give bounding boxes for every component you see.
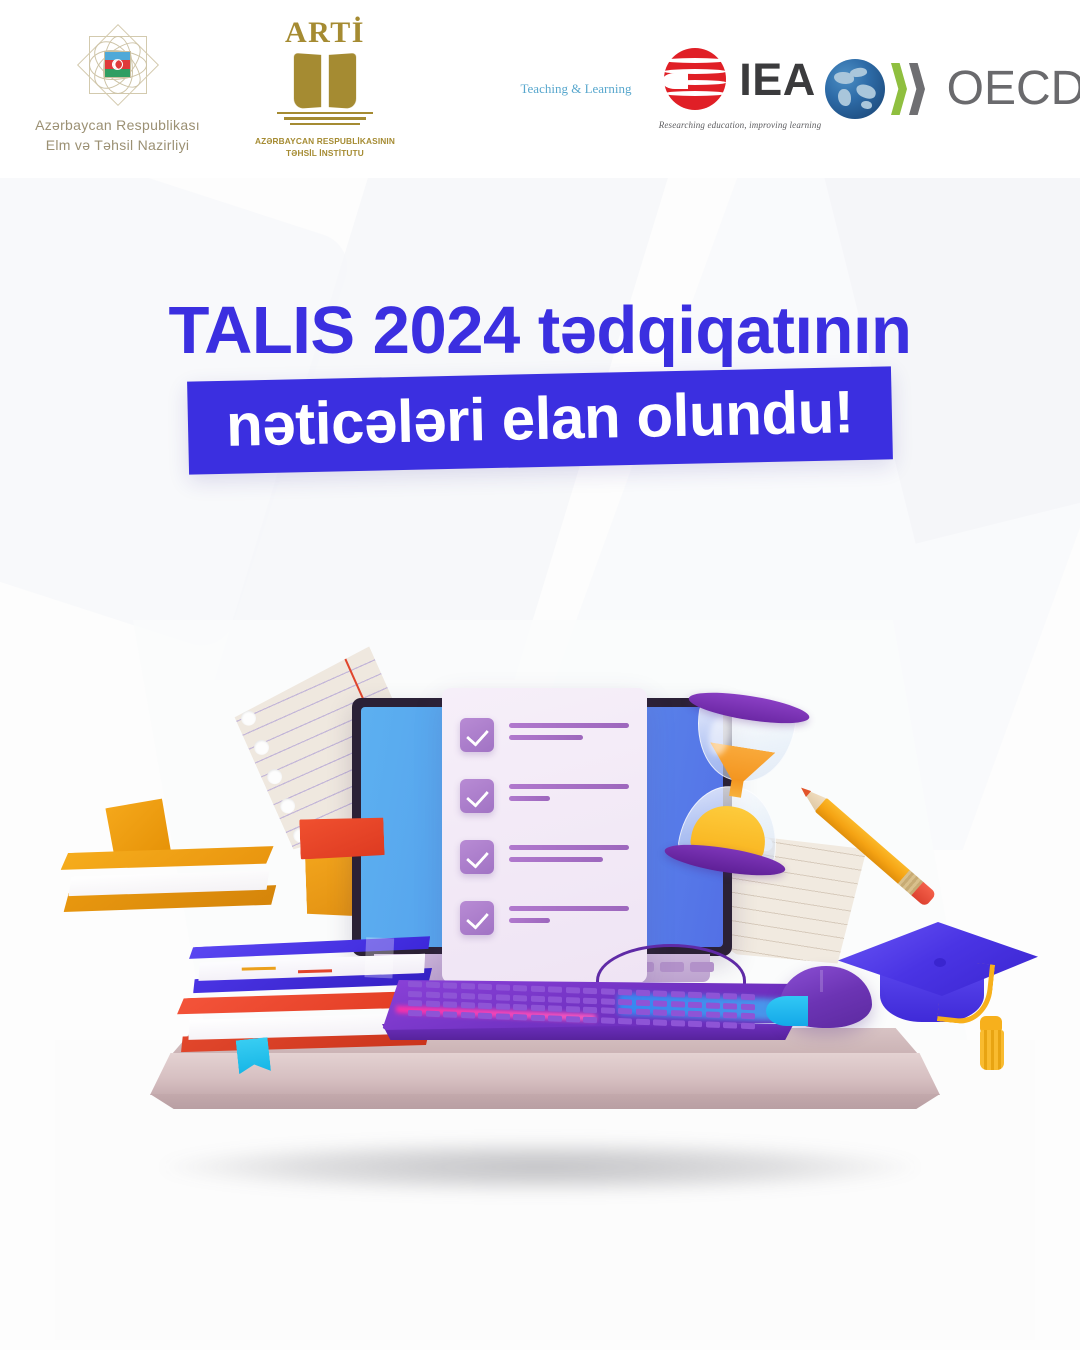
checklist-item [460,779,629,813]
checklist-item-lines [509,784,629,807]
logo-bar: Azərbaycan Respublikası Elm və Təhsil Na… [0,0,1080,178]
checklist-item [460,840,629,874]
red-globe-icon [664,48,726,110]
logo-ministry-line1: Azərbaycan Respublikası [35,116,200,136]
checklist-card [442,688,647,983]
logo-iea-wordmark: IEA [739,57,816,102]
logo-talis: Teaching & Learning [425,37,640,141]
logo-arti: ARTİ AZƏRBAYCAN RESPUBLİKASININ TƏHSİL İ… [225,18,425,160]
checklist-item-lines [509,723,629,746]
book-orange [60,839,279,932]
azerbaijan-ornament-emblem-icon [76,23,160,107]
arti-rule-lines [277,112,373,128]
checklist-item [460,718,629,752]
headline-band-wrapper: nəticələri elan olundu! [0,374,1080,467]
oecd-chevron-icon [889,61,943,117]
logo-iea-tagline: Researching education, improving learnin… [659,120,821,130]
education-desk-illustration [0,640,1080,1200]
checkbox-checked-icon [460,718,494,752]
logo-ministry-of-science-and-education: Azərbaycan Respublikası Elm və Təhsil Na… [10,23,225,156]
keyboard [382,980,802,1058]
logo-oecd-wordmark: OECD [947,65,1080,113]
checklist-item [460,901,629,935]
logo-talis-wordmark: Teaching & Learning [521,81,632,97]
azerbaijan-flag-core-icon [104,51,131,78]
logo-arti-line1: AZƏRBAYCAN RESPUBLİKASININ [255,135,395,147]
headline-block: TALIS 2024 tədqiqatının nəticələri elan … [0,296,1080,468]
headline-line-2-banner: nəticələri elan olundu! [187,367,892,476]
logo-arti-wordmark: ARTİ [285,18,365,48]
swoosh-arcs-icon: Teaching & Learning [448,37,618,141]
bookmark-ribbon-icon [236,1037,271,1074]
checklist-item-lines [509,845,629,868]
logo-arti-line2: TƏHSİL İNSTİTUTU [255,147,395,159]
sticky-note-red [299,817,384,860]
logo-oecd: OECD [840,59,1070,119]
poster-canvas: Azərbaycan Respublikası Elm və Təhsil Na… [0,0,1080,1350]
checkbox-checked-icon [460,840,494,874]
logo-ministry-caption: Azərbaycan Respublikası Elm və Təhsil Na… [35,116,200,156]
checklist-item-lines [509,906,629,929]
blue-globe-icon [825,59,885,119]
mouse-glow [766,996,808,1026]
open-book-icon [294,54,356,108]
computer-mouse [766,966,874,1036]
scene-ground-shadow [160,1140,920,1194]
headline-line-1: TALIS 2024 tədqiqatının [0,296,1080,366]
logo-arti-caption: AZƏRBAYCAN RESPUBLİKASININ TƏHSİL İNSTİT… [255,135,395,160]
checkbox-checked-icon [460,901,494,935]
checkbox-checked-icon [460,779,494,813]
logo-ministry-line2: Elm və Təhsil Nazirliyi [35,136,200,156]
logo-iea: IEA Researching education, improving lea… [640,48,840,130]
